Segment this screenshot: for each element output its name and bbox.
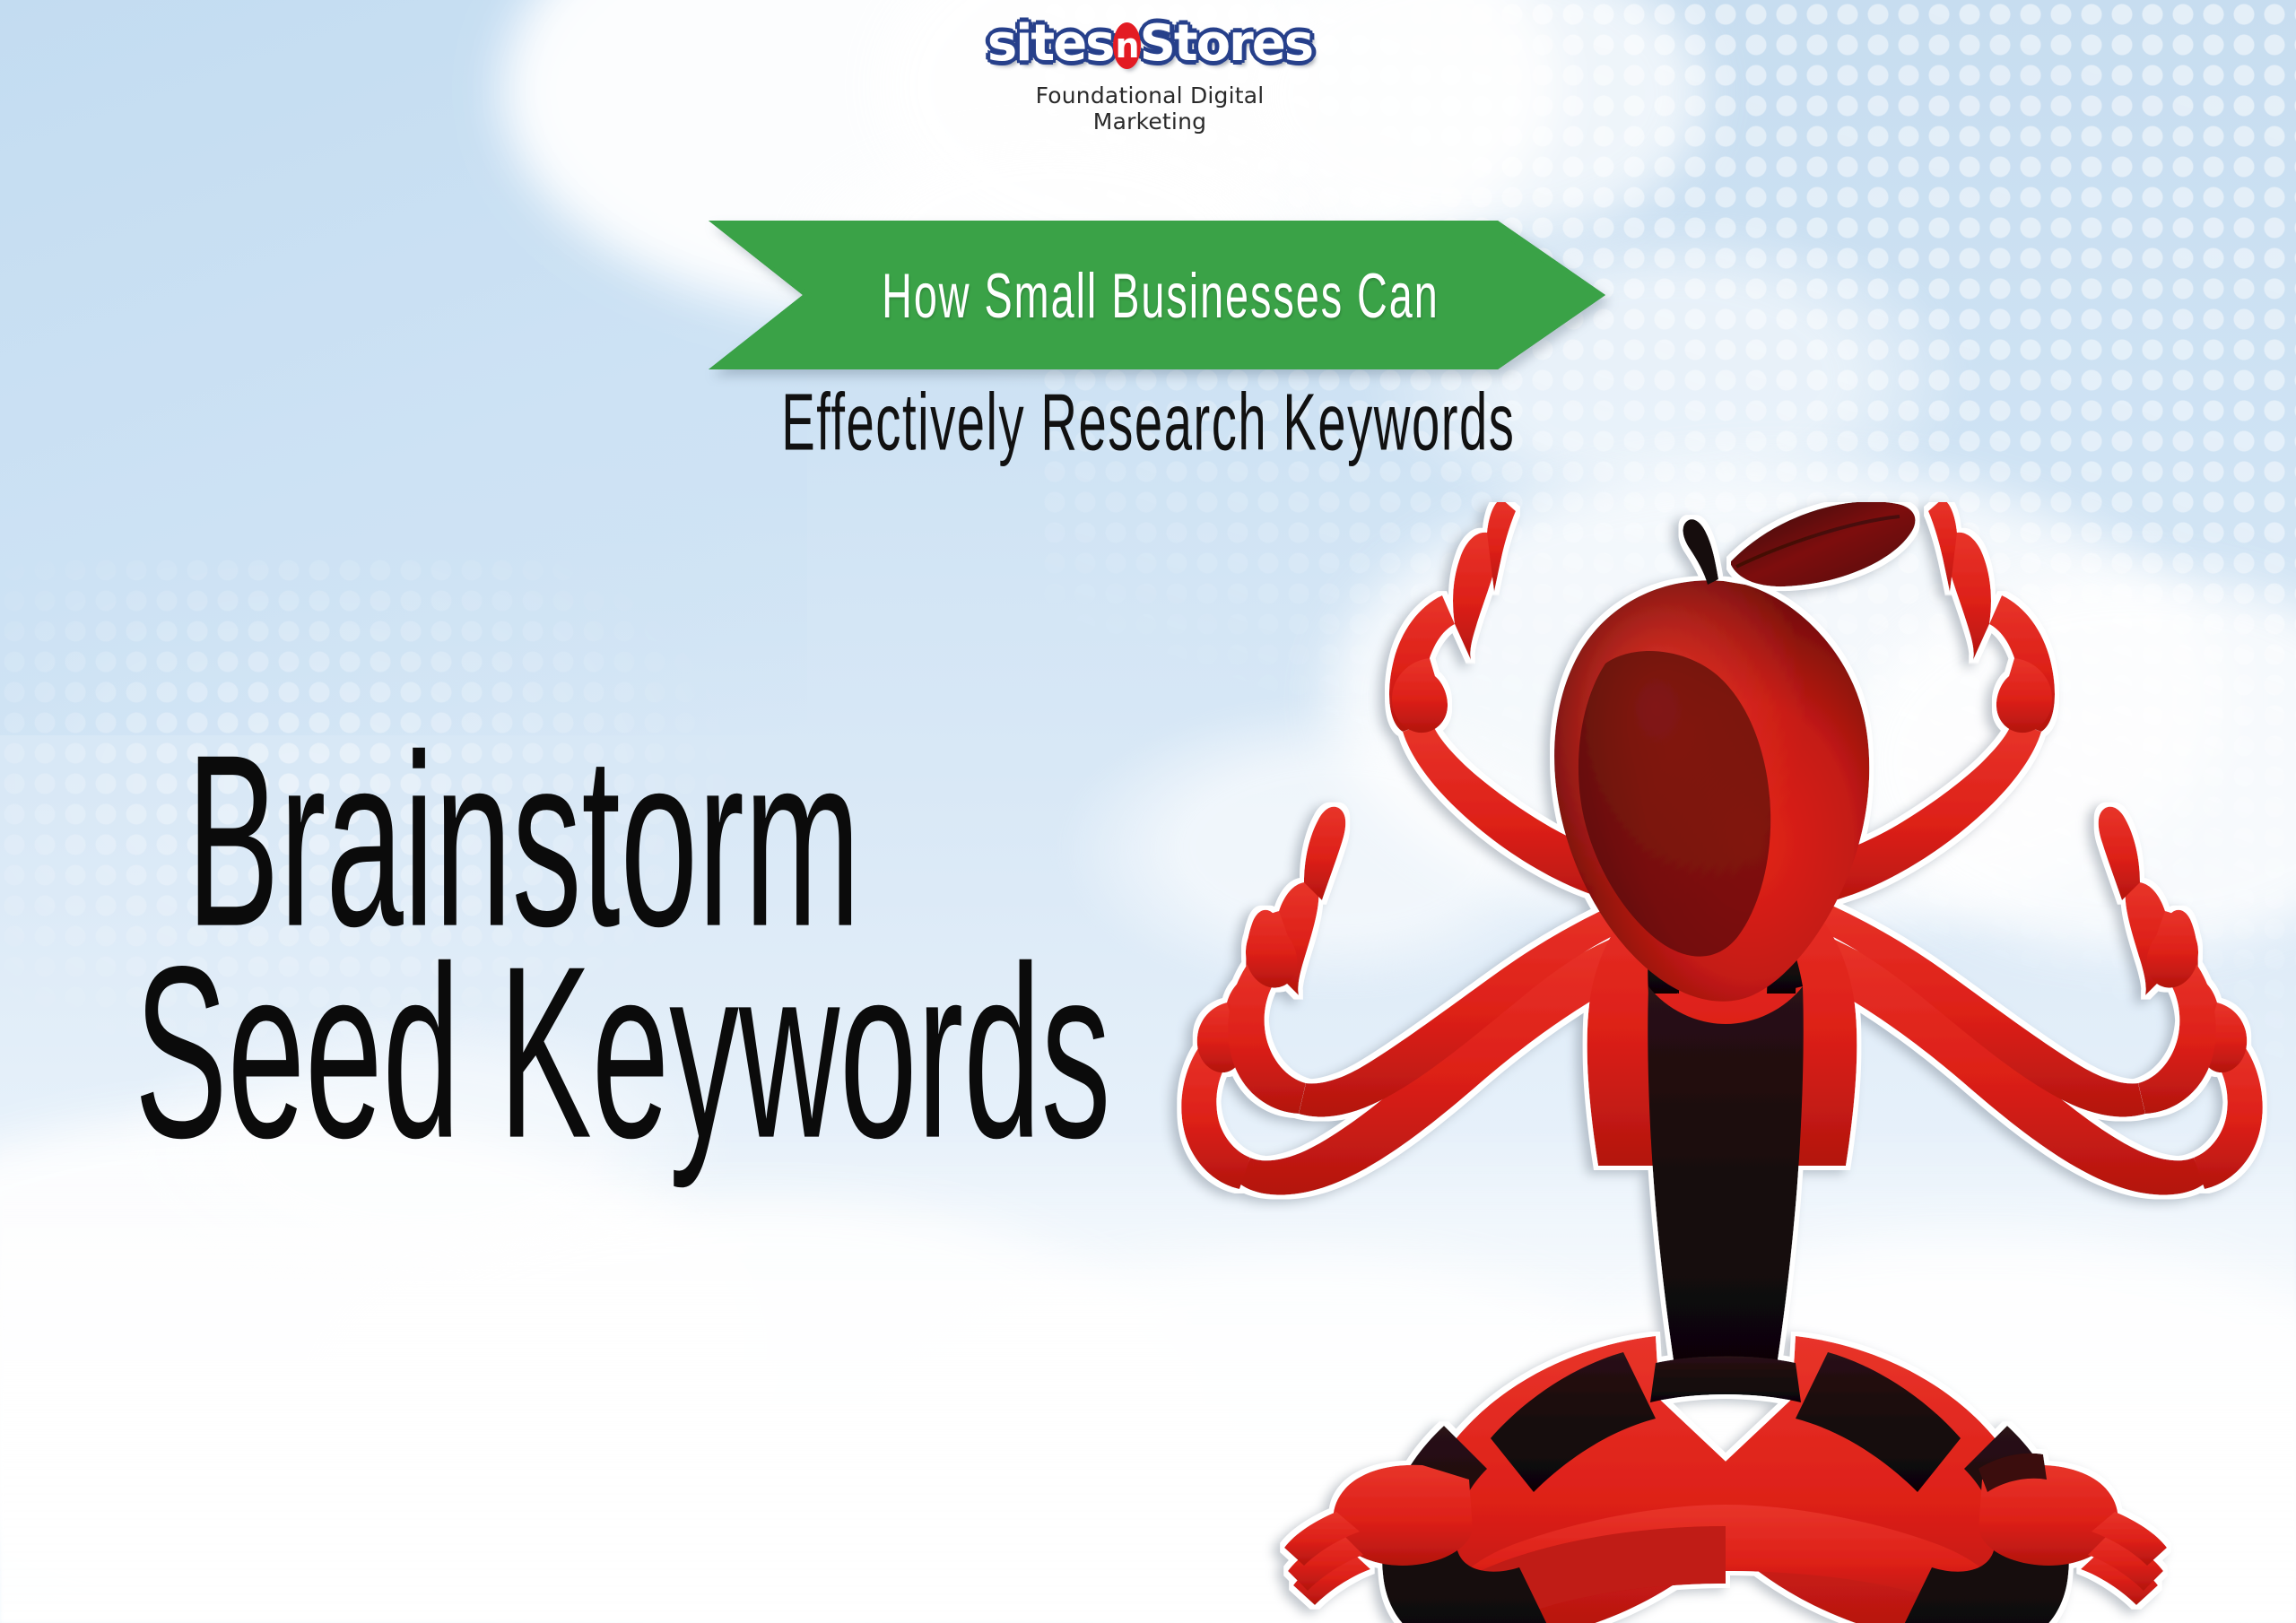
- subtitle: Effectively Research Keywords: [0, 384, 2296, 460]
- yoga-apple-figure-illustration: [1157, 502, 2296, 1623]
- apple-leaf: [1731, 502, 1915, 586]
- ribbon-label: How Small Businesses Can: [807, 207, 1507, 383]
- logo-badge-n: n: [1116, 25, 1138, 66]
- eyebrow-ribbon: How Small Businesses Can: [709, 221, 1605, 369]
- figure-body-group: [1181, 502, 2262, 1623]
- headline-line-2: Seed Keywords: [135, 965, 1139, 1141]
- figure-svg: [1157, 502, 2296, 1623]
- page-title: Brainstorm Seed Keywords: [135, 753, 1139, 1141]
- logo-tagline: Foundational Digital Marketing: [988, 82, 1311, 135]
- logo-word-sites: sites: [987, 16, 1114, 72]
- subtitle-text: Effectively Research Keywords: [781, 376, 1515, 469]
- logo-word-stores: Stores: [1140, 16, 1313, 72]
- poster-canvas: sitesnStores Foundational Digital Market…: [0, 0, 2296, 1623]
- lower-body: [1382, 1336, 2069, 1623]
- logo-wordmark: sitesnStores: [988, 16, 1311, 72]
- ribbon-body: How Small Businesses Can: [709, 221, 1605, 369]
- brand-logo[interactable]: sitesnStores Foundational Digital Market…: [988, 16, 1311, 135]
- headline-line-1: Brainstorm: [135, 753, 1139, 929]
- headline-line-2-text: Seed Keywords: [135, 939, 1110, 1167]
- apple-stem: [1683, 519, 1718, 585]
